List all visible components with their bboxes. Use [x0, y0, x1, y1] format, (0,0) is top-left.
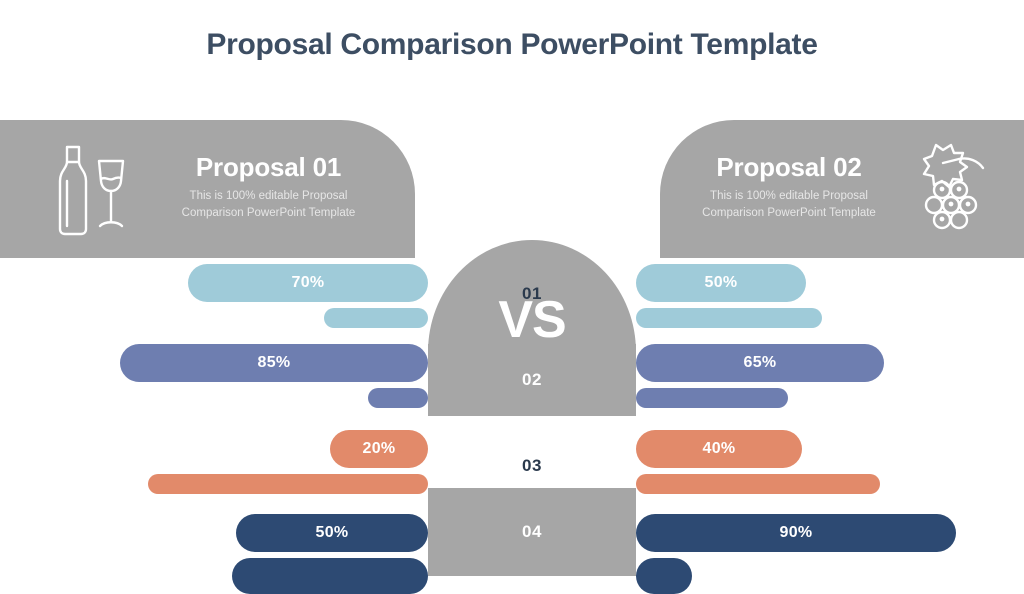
row-02-right-bar[interactable]: 65% — [636, 344, 884, 382]
row-03-right-shadow-bar — [636, 474, 880, 494]
row-03-left-shadow-bar — [148, 474, 428, 494]
page-title: Proposal Comparison PowerPoint Template — [0, 28, 1024, 62]
row-04-left-shadow-bar — [232, 558, 428, 594]
row-01-left-shadow-bar — [324, 308, 428, 328]
row-01-right-shadow-bar — [636, 308, 822, 328]
row-04-left-bar[interactable]: 50% — [236, 514, 428, 552]
row-02-right-shadow-bar — [636, 388, 788, 408]
grapes-icon — [894, 137, 990, 241]
row-03-right-bar[interactable]: 40% — [636, 430, 802, 468]
comparison-rows: 70% 50% 85% 65% 20% — [0, 258, 1024, 576]
row-01-left-value: 70% — [292, 274, 325, 292]
row-02-left-value: 85% — [258, 354, 291, 372]
row-04-right-shadow-bar — [636, 558, 692, 594]
row-01-right-value: 50% — [705, 274, 738, 292]
proposal-01-panel[interactable]: Proposal 01 This is 100% editable Propos… — [0, 120, 415, 258]
header-band: Proposal 01 This is 100% editable Propos… — [0, 120, 1024, 258]
row-04-right-bar[interactable]: 90% — [636, 514, 956, 552]
proposal-02-panel[interactable]: Proposal 02 This is 100% editable Propos… — [660, 120, 1024, 258]
row-03-left-bar[interactable]: 20% — [330, 430, 428, 468]
proposal-01-text: Proposal 01 This is 100% editable Propos… — [136, 153, 401, 226]
wine-bottle-and-glass-icon — [40, 137, 136, 241]
row-04-right-value: 90% — [780, 524, 813, 542]
row-02-left-shadow-bar — [368, 388, 428, 408]
proposal-02-text: Proposal 02 This is 100% editable Propos… — [684, 153, 894, 226]
row-01-right-bar[interactable]: 50% — [636, 264, 806, 302]
row-03-left-value: 20% — [363, 440, 396, 458]
proposal-02-heading: Proposal 02 — [684, 153, 894, 182]
proposal-01-heading: Proposal 01 — [136, 153, 401, 182]
proposal-02-subtitle: This is 100% editable Proposal Compariso… — [689, 188, 889, 221]
row-03-right-value: 40% — [703, 440, 736, 458]
row-02-right-value: 65% — [744, 354, 777, 372]
row-04-left-value: 50% — [316, 524, 349, 542]
row-01-left-bar[interactable]: 70% — [188, 264, 428, 302]
proposal-01-subtitle: This is 100% editable Proposal Compariso… — [169, 188, 369, 221]
row-02-left-bar[interactable]: 85% — [120, 344, 428, 382]
